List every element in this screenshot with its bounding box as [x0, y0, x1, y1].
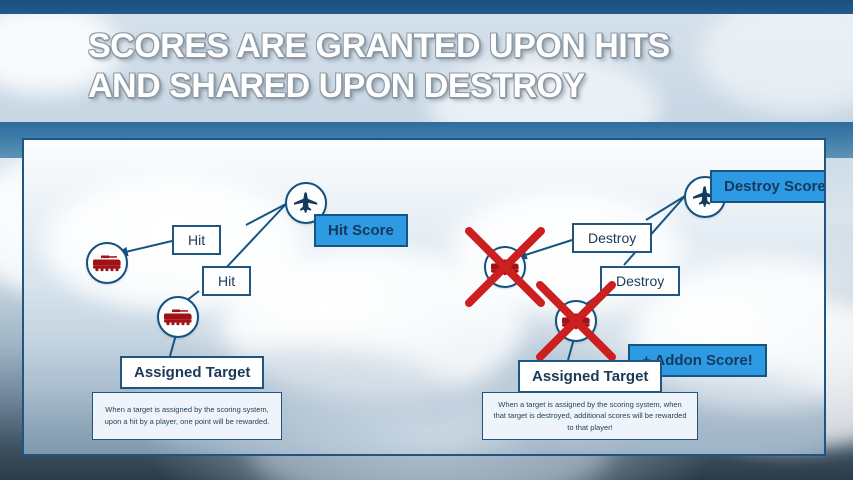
label-hit-upper: Hit — [172, 225, 221, 255]
tank-icon — [163, 308, 193, 326]
label-assigned-target-left: Assigned Target — [120, 356, 264, 389]
fighter-jet-icon — [291, 191, 321, 215]
diagram-content: Hit Score Hit Hit — [24, 140, 824, 454]
badge-destroy-score[interactable]: Destroy Score — [710, 170, 826, 203]
node-target-top-left[interactable] — [86, 242, 128, 284]
node-assigned-target-right[interactable] — [555, 300, 597, 342]
tank-icon — [561, 312, 591, 330]
label-hit-lower: Hit — [202, 266, 251, 296]
label-destroy-upper: Destroy — [572, 223, 652, 253]
badge-hit-score[interactable]: Hit Score — [314, 214, 408, 247]
page-title-line-1: SCORES ARE GRANTED UPON HITS — [88, 26, 788, 66]
top-accent-bar — [0, 0, 853, 14]
tank-icon — [490, 258, 520, 276]
caption-destroy-rule: When a target is assigned by the scoring… — [482, 392, 698, 440]
label-destroy-lower: Destroy — [600, 266, 680, 296]
node-assigned-target-left[interactable] — [157, 296, 199, 338]
node-target-top-right[interactable] — [484, 246, 526, 288]
label-assigned-target-right: Assigned Target — [518, 360, 662, 393]
slide-stage: SCORES ARE GRANTED UPON HITS AND SHARED … — [0, 0, 853, 480]
diagram-panel: Hit Score Hit Hit — [22, 138, 826, 456]
caption-hit-rule: When a target is assigned by the scoring… — [92, 392, 282, 440]
tank-icon — [92, 254, 122, 272]
page-title: SCORES ARE GRANTED UPON HITS AND SHARED … — [88, 26, 788, 106]
page-title-line-2: AND SHARED UPON DESTROY — [88, 66, 788, 106]
